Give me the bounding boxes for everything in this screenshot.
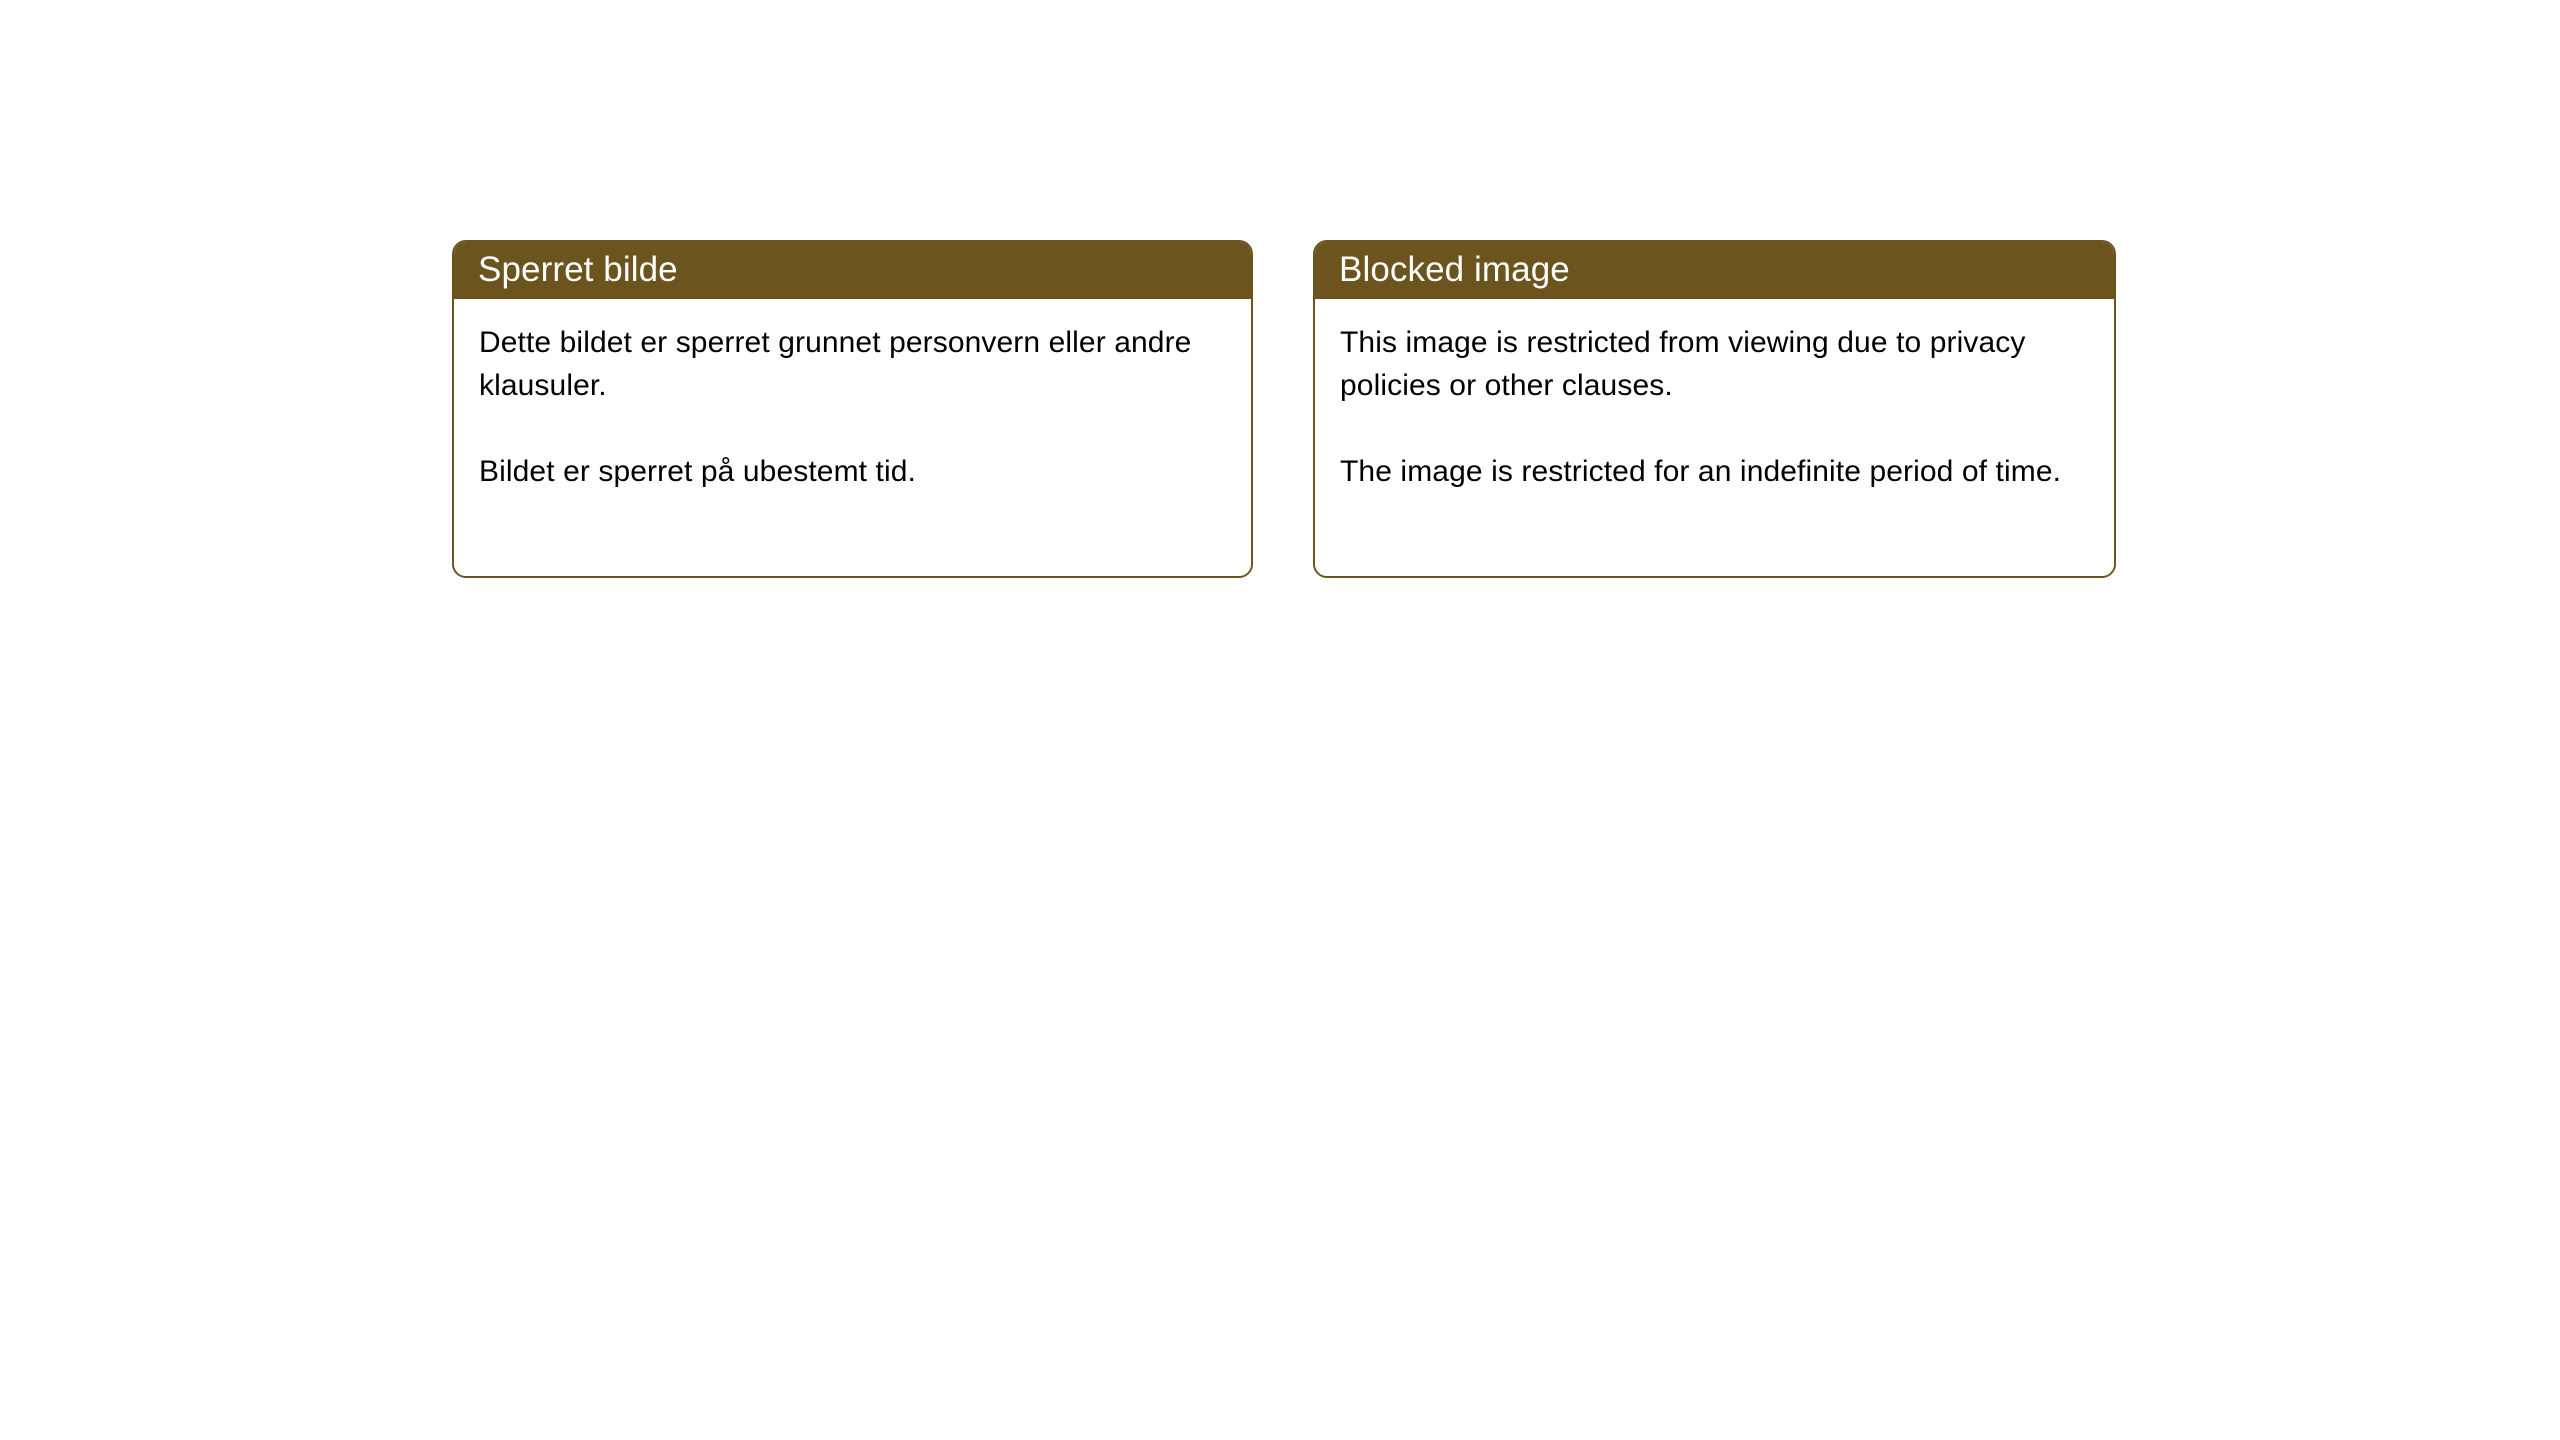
notice-title-norwegian: Sperret bilde [478,250,678,290]
notice-paragraph-secondary-norwegian: Bildet er sperret på ubestemt tid. [479,450,1227,493]
notice-header-english: Blocked image [1314,241,2115,299]
paragraph-spacer [479,407,1227,450]
blocked-image-notice-norwegian: Sperret bilde Dette bildet er sperret gr… [452,240,1253,578]
notice-paragraph-secondary-english: The image is restricted for an indefinit… [1340,450,2090,493]
page-canvas: Sperret bilde Dette bildet er sperret gr… [0,0,2560,1440]
notice-header-norwegian: Sperret bilde [453,241,1252,299]
notice-title-english: Blocked image [1339,250,1570,290]
blocked-image-notice-english: Blocked image This image is restricted f… [1313,240,2116,578]
paragraph-spacer [1340,407,2090,450]
notice-paragraph-primary-norwegian: Dette bildet er sperret grunnet personve… [479,321,1227,407]
notice-paragraph-primary-english: This image is restricted from viewing du… [1340,321,2090,407]
notice-body-english: This image is restricted from viewing du… [1315,299,2114,576]
notice-body-norwegian: Dette bildet er sperret grunnet personve… [454,299,1251,576]
